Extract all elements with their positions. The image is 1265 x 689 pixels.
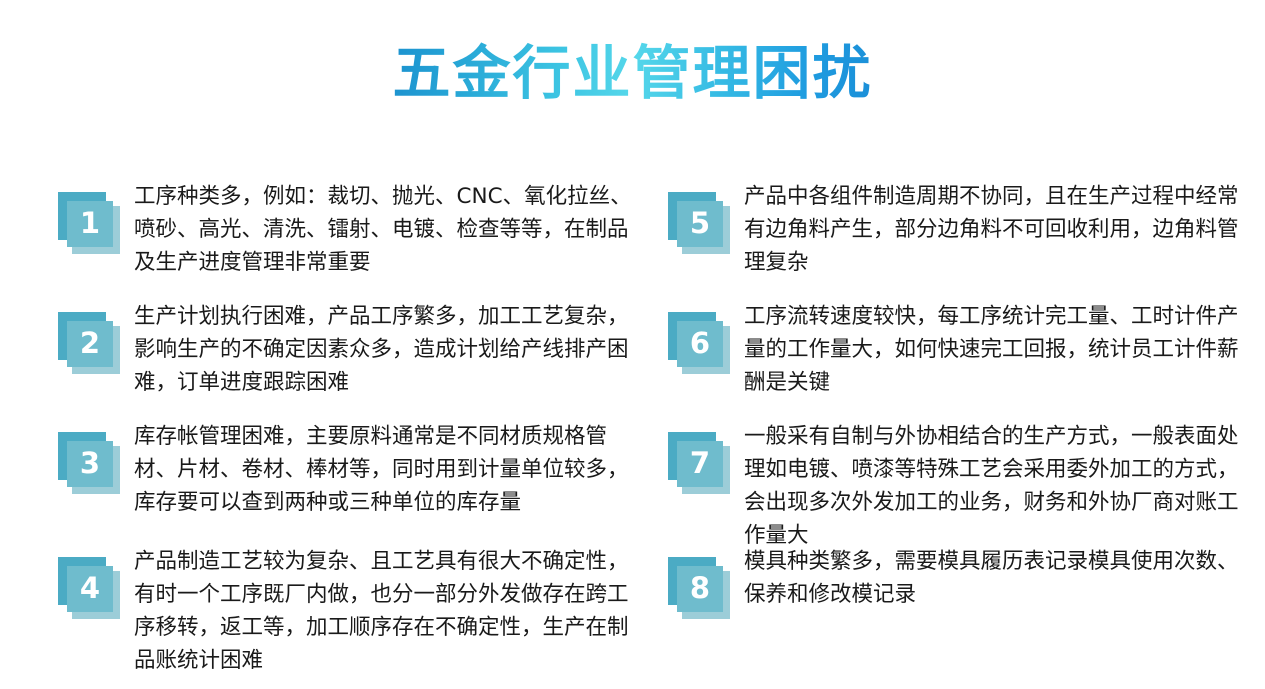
badge-number-label: 5 bbox=[690, 209, 710, 238]
list-item-text: 产品中各组件制造周期不协同，且在生产过程中经常有边角料产生，部分边角料不可回收利… bbox=[744, 180, 1244, 279]
title-container: 五金行业管理困扰 bbox=[0, 40, 1265, 107]
badge-number-label: 1 bbox=[80, 209, 100, 238]
badge-number-label: 8 bbox=[690, 574, 710, 603]
list-item-text: 库存帐管理困难，主要原料通常是不同材质规格管材、片材、卷材、棒材等，同时用到计量… bbox=[134, 420, 634, 519]
list-item-5: 5 产品中各组件制造周期不协同，且在生产过程中经常有边角料产生，部分边角料不可回… bbox=[668, 180, 1244, 279]
list-item-8: 8 模具种类繁多，需要模具履历表记录模具使用次数、保养和修改模记录 bbox=[668, 545, 1244, 619]
number-badge-6: 6 bbox=[668, 312, 730, 374]
badge-front-square-icon: 6 bbox=[677, 321, 723, 367]
list-item-6: 6 工序流转速度较快，每工序统计完工量、工时计件产量的工作量大，如何快速完工回报… bbox=[668, 300, 1244, 399]
badge-number-label: 3 bbox=[80, 449, 100, 478]
number-badge-1: 1 bbox=[58, 192, 120, 254]
badge-front-square-icon: 8 bbox=[677, 566, 723, 612]
number-badge-4: 4 bbox=[58, 557, 120, 619]
slide-canvas: 五金行业管理困扰 1 工序种类多，例如：裁切、抛光、CNC、氧化拉丝、喷砂、高光… bbox=[0, 0, 1265, 689]
number-badge-8: 8 bbox=[668, 557, 730, 619]
list-item-text: 生产计划执行困难，产品工序繁多，加工工艺复杂，影响生产的不确定因素众多，造成计划… bbox=[134, 300, 634, 399]
badge-number-label: 2 bbox=[80, 329, 100, 358]
badge-front-square-icon: 7 bbox=[677, 441, 723, 487]
badge-front-square-icon: 4 bbox=[67, 566, 113, 612]
number-badge-3: 3 bbox=[58, 432, 120, 494]
badge-front-square-icon: 1 bbox=[67, 201, 113, 247]
list-item-text: 模具种类繁多，需要模具履历表记录模具使用次数、保养和修改模记录 bbox=[744, 545, 1244, 611]
badge-number-label: 4 bbox=[80, 574, 100, 603]
number-badge-5: 5 bbox=[668, 192, 730, 254]
list-item-text: 一般采有自制与外协相结合的生产方式，一般表面处理如电镀、喷漆等特殊工艺会采用委外… bbox=[744, 420, 1244, 552]
number-badge-2: 2 bbox=[58, 312, 120, 374]
badge-front-square-icon: 2 bbox=[67, 321, 113, 367]
number-badge-7: 7 bbox=[668, 432, 730, 494]
list-item-3: 3 库存帐管理困难，主要原料通常是不同材质规格管材、片材、卷材、棒材等，同时用到… bbox=[58, 420, 634, 519]
page-title: 五金行业管理困扰 bbox=[392, 40, 872, 107]
list-item-2: 2 生产计划执行困难，产品工序繁多，加工工艺复杂，影响生产的不确定因素众多，造成… bbox=[58, 300, 634, 399]
badge-number-label: 6 bbox=[690, 329, 710, 358]
badge-front-square-icon: 3 bbox=[67, 441, 113, 487]
badge-front-square-icon: 5 bbox=[677, 201, 723, 247]
list-item-text: 工序流转速度较快，每工序统计完工量、工时计件产量的工作量大，如何快速完工回报，统… bbox=[744, 300, 1244, 399]
list-item-7: 7 一般采有自制与外协相结合的生产方式，一般表面处理如电镀、喷漆等特殊工艺会采用… bbox=[668, 420, 1244, 552]
badge-number-label: 7 bbox=[690, 449, 710, 478]
list-item-text: 产品制造工艺较为复杂、且工艺具有很大不确定性，有时一个工序既厂内做，也分一部分外… bbox=[134, 545, 634, 677]
list-item-1: 1 工序种类多，例如：裁切、抛光、CNC、氧化拉丝、喷砂、高光、清洗、镭射、电镀… bbox=[58, 180, 634, 279]
list-item-4: 4 产品制造工艺较为复杂、且工艺具有很大不确定性，有时一个工序既厂内做，也分一部… bbox=[58, 545, 634, 677]
list-item-text: 工序种类多，例如：裁切、抛光、CNC、氧化拉丝、喷砂、高光、清洗、镭射、电镀、检… bbox=[134, 180, 634, 279]
